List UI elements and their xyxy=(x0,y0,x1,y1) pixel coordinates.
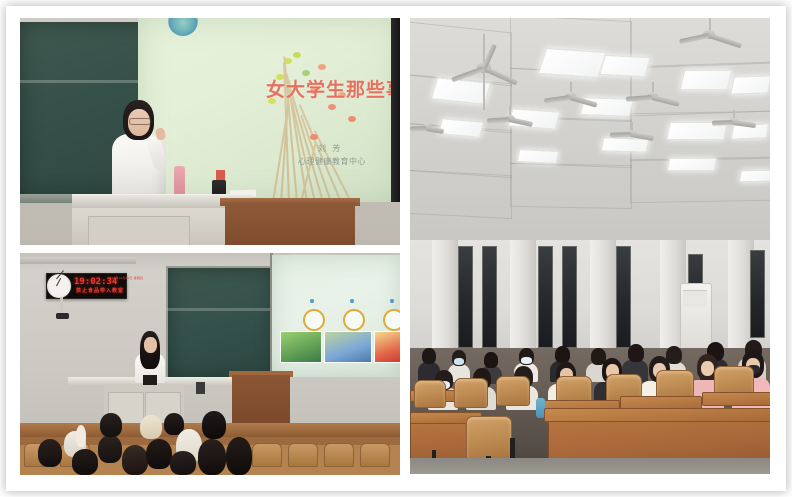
window xyxy=(538,246,553,348)
slide-presenter: 刘 芳 xyxy=(318,143,342,154)
window xyxy=(750,250,765,338)
camera-icon xyxy=(56,313,69,319)
seat-back xyxy=(324,443,354,467)
floor xyxy=(410,458,770,474)
seat-back xyxy=(360,443,390,467)
audience-head xyxy=(198,439,226,475)
photo-lecturer-slide: 女大学生那些事 刘 芳 心理健康教育中心 xyxy=(20,18,400,245)
chair-back xyxy=(454,378,488,408)
decorative-flowers xyxy=(266,38,376,202)
speaker-skirt xyxy=(143,375,157,385)
audience-head xyxy=(122,445,148,475)
ceiling-fan-icon xyxy=(410,118,444,142)
student-speaker-figure xyxy=(132,331,168,383)
node-dot xyxy=(350,299,354,303)
ceiling-fan-icon xyxy=(712,110,756,138)
wooden-podium xyxy=(232,375,290,423)
ceiling-light-panel xyxy=(739,170,770,183)
lecturer-hand xyxy=(155,127,166,141)
slide-thumbnail xyxy=(374,331,400,363)
audience-head xyxy=(98,435,122,463)
hair-ribbon xyxy=(76,425,86,447)
seat-back xyxy=(252,443,282,467)
window xyxy=(482,246,497,348)
node-dot xyxy=(390,299,394,303)
audience-head xyxy=(146,439,172,469)
audience-head xyxy=(226,437,252,475)
chalkboard-divider xyxy=(166,308,272,311)
audience-head xyxy=(38,439,62,467)
window xyxy=(458,246,473,348)
window xyxy=(562,246,577,348)
console-desk-right xyxy=(180,377,236,385)
ceiling-light-panel xyxy=(667,158,717,171)
photo-lecture-hall-audience xyxy=(410,18,770,474)
chair-back xyxy=(496,376,530,406)
ceiling-light-panel xyxy=(517,149,560,164)
photo-collage-page: 女大学生那些事 刘 芳 心理健康教育中心 xyxy=(0,0,792,497)
led-date: 2022年10月20日 星期四 xyxy=(108,276,143,280)
lecturer-figure xyxy=(106,100,172,200)
speaker-face xyxy=(144,337,157,353)
node-ring xyxy=(383,309,400,331)
chair-back xyxy=(414,380,446,408)
wall-column xyxy=(590,240,616,360)
ceiling-fan-icon xyxy=(610,122,654,150)
slide-title: 女大学生那些事 xyxy=(266,75,400,102)
ceiling-light-panel xyxy=(680,70,733,90)
ceiling-light-panel xyxy=(599,55,651,77)
chair-back xyxy=(466,416,512,460)
wooden-podium xyxy=(225,202,355,245)
slide-organization: 心理健康教育中心 xyxy=(298,156,366,167)
audience-head xyxy=(202,411,226,439)
chalkboard xyxy=(166,266,276,382)
desk-panel xyxy=(88,216,190,245)
ceiling-fan-icon xyxy=(488,106,532,136)
ceiling-duct xyxy=(20,257,136,264)
node-ring xyxy=(343,309,365,331)
ceiling-fan-icon xyxy=(628,82,678,118)
audience-head xyxy=(140,415,162,439)
slide-thumbnail xyxy=(280,331,322,363)
glasses-icon xyxy=(129,118,151,125)
node-dot xyxy=(310,299,314,303)
analog-clock-icon xyxy=(46,273,72,299)
audience-head xyxy=(72,449,98,475)
ceiling xyxy=(410,18,770,248)
wall-column xyxy=(432,240,458,360)
ceiling-fan-icon xyxy=(546,82,596,118)
audience-head xyxy=(170,451,196,475)
photo-classroom-contents: 19:02:34 2022年10月20日 星期四 禁止食品带入教室 CONTEN… xyxy=(20,253,400,475)
desk-top xyxy=(702,392,770,406)
node-ring xyxy=(303,309,325,331)
school-emblem-icon xyxy=(168,18,198,36)
front-desk-long-top xyxy=(544,408,770,422)
ceiling-fan-icon xyxy=(682,18,738,58)
screen-frame-right xyxy=(391,18,400,202)
led-notice: 禁止食品带入教室 xyxy=(76,287,124,294)
ac-vent xyxy=(683,290,707,307)
projection-screen: CONTENTS xyxy=(272,255,400,377)
ceiling-light-panel xyxy=(730,75,770,94)
seat-back xyxy=(288,443,318,467)
audience-head xyxy=(100,413,122,437)
wall-column xyxy=(510,240,536,360)
ceiling-fan-icon xyxy=(456,34,512,104)
window xyxy=(616,246,631,348)
ceiling-light-panel xyxy=(538,48,606,78)
speaker-box xyxy=(196,382,205,394)
slide-thumbnail xyxy=(324,331,372,363)
